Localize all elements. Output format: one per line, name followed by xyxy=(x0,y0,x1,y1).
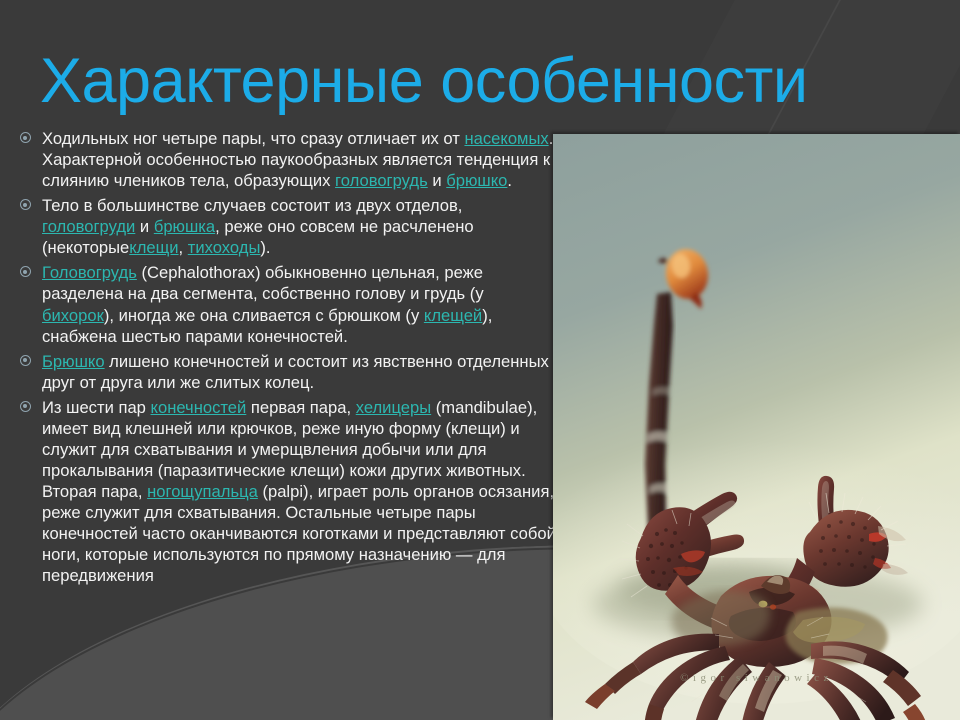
list-item: Ходильных ног четыре пары, что сразу отл… xyxy=(8,128,556,191)
hyperlink[interactable]: ногощупальца xyxy=(147,482,258,501)
hyperlink[interactable]: насекомых xyxy=(464,129,548,148)
hyperlink[interactable]: конечностей xyxy=(151,398,247,417)
hyperlink[interactable]: клещей xyxy=(424,306,482,325)
bullet-marker-icon xyxy=(8,262,42,279)
hyperlink[interactable]: брюшко xyxy=(446,171,507,190)
hyperlink[interactable]: тихоходы xyxy=(188,238,261,257)
hyperlink[interactable]: головогруди xyxy=(42,217,135,236)
hyperlink[interactable]: головогрудь xyxy=(335,171,428,190)
hyperlink[interactable]: Брюшко xyxy=(42,352,105,371)
bullet-marker-icon xyxy=(8,351,42,368)
hyperlink[interactable]: бихорок xyxy=(42,306,104,325)
list-item: Брюшко лишено конечностей и состоит из я… xyxy=(8,351,556,393)
bullet-text-1: Ходильных ног четыре пары, что сразу отл… xyxy=(42,128,556,191)
bullet-marker-icon xyxy=(8,397,42,414)
hyperlink[interactable]: Головогрудь xyxy=(42,263,137,282)
slide-title: Характерные особенности xyxy=(40,48,920,114)
hyperlink[interactable]: брюшка xyxy=(154,217,215,236)
hyperlink[interactable]: клещи xyxy=(129,238,178,257)
list-item: Из шести пар конечностей первая пара, хе… xyxy=(8,397,556,587)
scorpion-photo: ©igor siwanowicz xyxy=(553,134,960,720)
list-item: Тело в большинстве случаев состоит из дв… xyxy=(8,195,556,258)
bullet-text-5: Из шести пар конечностей первая пара, хе… xyxy=(42,397,556,587)
bullet-text-3: Головогрудь (Cephalothorax) обыкновенно … xyxy=(42,262,556,346)
bullet-text-2: Тело в большинстве случаев состоит из дв… xyxy=(42,195,556,258)
bullet-list: Ходильных ног четыре пары, что сразу отл… xyxy=(8,128,556,590)
list-item: Головогрудь (Cephalothorax) обыкновенно … xyxy=(8,262,556,346)
bullet-text-4: Брюшко лишено конечностей и состоит из я… xyxy=(42,351,556,393)
hyperlink[interactable]: хелицеры xyxy=(356,398,431,417)
bullet-marker-icon xyxy=(8,128,42,145)
photo-watermark: ©igor siwanowicz xyxy=(680,672,833,684)
presentation-slide: Характерные особенности Ходильных ног че… xyxy=(0,0,960,720)
bullet-marker-icon xyxy=(8,195,42,212)
